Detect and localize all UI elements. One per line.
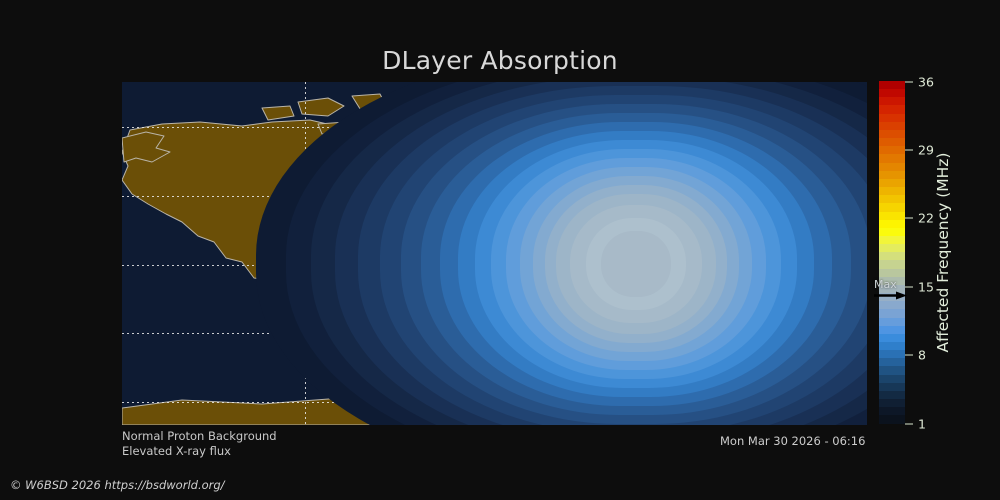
status-line-proton: Normal Proton Background	[122, 429, 277, 444]
colorbar-segment	[879, 236, 905, 244]
colorbar-segment	[879, 269, 905, 277]
colorbar-segment	[879, 130, 905, 138]
colorbar-segment	[879, 391, 905, 399]
colorbar-segment	[879, 179, 905, 187]
colorbar-tick-line	[905, 423, 913, 424]
colorbar-segment	[879, 244, 905, 252]
colorbar-segment	[879, 326, 905, 334]
colorbar-segment	[879, 203, 905, 211]
colorbar-segment	[879, 252, 905, 260]
colorbar-segment	[879, 366, 905, 374]
colorbar-segment	[879, 146, 905, 154]
colorbar-max-marker: Max	[872, 278, 916, 304]
colorbar-segment	[879, 350, 905, 358]
status-text: Normal Proton Background Elevated X-ray …	[122, 429, 277, 459]
colorbar-axis-label: Affected Frequency (MHz)	[930, 81, 956, 424]
colorbar-segment	[879, 375, 905, 383]
colorbar-segment	[879, 342, 905, 350]
colorbar-tick-line	[905, 218, 913, 219]
colorbar-tick-line	[905, 81, 913, 82]
absorption-core	[601, 231, 671, 297]
colorbar-segment	[879, 383, 905, 391]
world-map[interactable]	[122, 82, 867, 425]
credit-label: © W6BSD 2026 https://bsdworld.org/	[10, 478, 225, 492]
colorbar-segment	[879, 358, 905, 366]
colorbar-tick-label: 8	[918, 348, 926, 363]
colorbar-segment	[879, 138, 905, 146]
colorbar-segment	[879, 334, 905, 342]
colorbar-tick: 1	[905, 416, 926, 431]
colorbar-tick-line	[905, 355, 913, 356]
colorbar-segment	[879, 187, 905, 195]
max-marker-label: Max	[874, 278, 897, 291]
colorbar-segment	[879, 171, 905, 179]
colorbar-segment	[879, 163, 905, 171]
colorbar-segment	[879, 97, 905, 105]
colorbar-tick-label: 1	[918, 416, 926, 431]
page-title: DLayer Absorption	[0, 46, 1000, 75]
colorbar-segment	[879, 105, 905, 113]
timestamp-label: Mon Mar 30 2026 - 06:16	[720, 434, 865, 448]
colorbar-segment	[879, 81, 905, 89]
colorbar-segment	[879, 154, 905, 162]
colorbar-segment	[879, 122, 905, 130]
status-line-xray: Elevated X-ray flux	[122, 444, 277, 459]
colorbar-segment	[879, 212, 905, 220]
arrow-right-icon	[874, 291, 908, 300]
colorbar-segment	[879, 399, 905, 407]
colorbar-segment	[879, 318, 905, 326]
colorbar-gradient[interactable]	[879, 81, 905, 424]
colorbar-segment	[879, 415, 905, 423]
colorbar-tick-line	[905, 149, 913, 150]
colorbar-segment	[879, 195, 905, 203]
dlayer-absorption-screen: DLayer Absorption	[0, 0, 1000, 500]
colorbar-segment	[879, 89, 905, 97]
colorbar-segment	[879, 114, 905, 122]
colorbar-tick: 8	[905, 348, 926, 363]
colorbar-segment	[879, 407, 905, 415]
colorbar-segment	[879, 228, 905, 236]
colorbar-segment	[879, 260, 905, 268]
colorbar-segment	[879, 309, 905, 317]
colorbar-segment	[879, 220, 905, 228]
